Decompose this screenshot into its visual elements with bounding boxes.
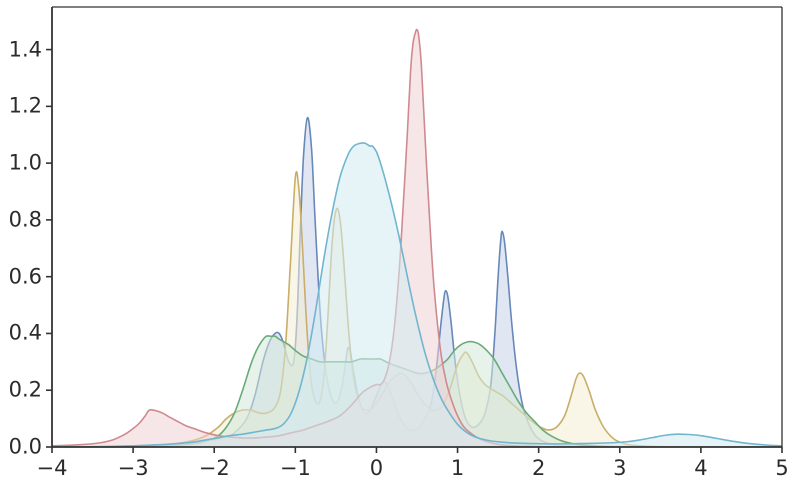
x-tick-label: 4: [694, 458, 707, 479]
y-tick-label: 1.0: [0, 153, 42, 174]
x-tick-label: −2: [199, 458, 230, 479]
y-tick-label: 0.8: [0, 209, 42, 230]
kde-density-figure: −4−3−2−10123450.00.20.40.60.81.01.21.4: [0, 0, 790, 483]
y-tick-label: 0.6: [0, 266, 42, 287]
plot-canvas: [0, 0, 790, 483]
x-tick-label: 3: [613, 458, 626, 479]
y-tick-label: 1.4: [0, 39, 42, 60]
y-tick-label: 0.0: [0, 437, 42, 458]
x-tick-label: 2: [532, 458, 545, 479]
y-tick-label: 1.2: [0, 96, 42, 117]
x-tick-label: 1: [451, 458, 464, 479]
x-tick-label: 0: [370, 458, 383, 479]
y-tick-label: 0.4: [0, 323, 42, 344]
y-tick-label: 0.2: [0, 380, 42, 401]
x-tick-label: −1: [280, 458, 311, 479]
x-tick-label: −4: [37, 458, 68, 479]
x-tick-label: −3: [118, 458, 149, 479]
x-tick-label: 5: [775, 458, 788, 479]
density-curves-group: [52, 30, 782, 447]
